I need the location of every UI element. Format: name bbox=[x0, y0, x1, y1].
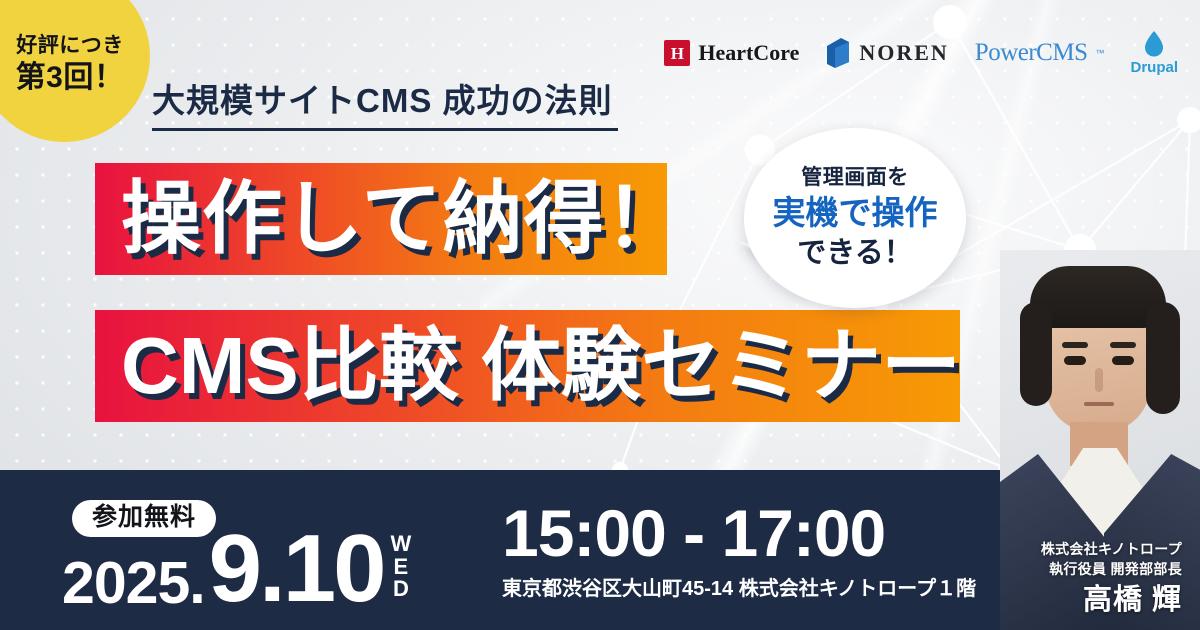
logo-powercms-label: PowerCMS bbox=[975, 39, 1088, 67]
event-year: 2025. bbox=[62, 556, 205, 610]
dow-letter-1: W bbox=[391, 533, 412, 555]
speech-bubble: 管理画面を 実機で操作 できる！ bbox=[744, 128, 966, 308]
event-day: 9.10 bbox=[209, 528, 384, 611]
logo-drupal-label: Drupal bbox=[1130, 59, 1178, 76]
bubble-line-3: できる！ bbox=[797, 236, 912, 271]
logo-noren-label: NOREN bbox=[859, 40, 948, 66]
headline-band-1: 操作して納得！ bbox=[95, 163, 667, 275]
speaker-title: 執行役員 開発部部長 bbox=[1041, 559, 1182, 579]
event-time: 15:00 - 17:00 bbox=[502, 500, 976, 566]
headline-line-2: CMS比較 体験セミナー bbox=[95, 326, 961, 406]
speaker-name: 高橋 輝 bbox=[1041, 583, 1182, 618]
repeat-badge: 好評につき 第3回！ bbox=[0, 0, 150, 142]
bubble-line-2: 実機で操作 bbox=[773, 193, 938, 233]
event-date: 2025. 9.10 W E D bbox=[62, 528, 411, 611]
speaker-info: 株式会社キノトロープ 執行役員 開発部部長 高橋 輝 bbox=[1041, 539, 1182, 618]
speaker-side-hair-right bbox=[1146, 302, 1180, 414]
logo-powercms: PowerCMS ™ bbox=[975, 39, 1105, 67]
speaker-eyebrow-right bbox=[1110, 342, 1136, 348]
repeat-badge-line1: 好評につき bbox=[16, 33, 124, 59]
logo-heartcore-label: HeartCore bbox=[698, 40, 799, 66]
repeat-badge-line2: 第3回！ bbox=[16, 61, 125, 96]
heartcore-mark-icon: H bbox=[664, 40, 690, 66]
logo-drupal: Drupal bbox=[1130, 30, 1178, 76]
speaker-nose bbox=[1095, 368, 1103, 392]
logo-noren: NOREN bbox=[825, 38, 948, 68]
dow-letter-3: D bbox=[393, 578, 409, 600]
speaker-eyebrow-left bbox=[1062, 342, 1088, 348]
speaker-eye-left bbox=[1064, 356, 1086, 365]
event-day-of-week: W E D bbox=[391, 533, 412, 600]
subtitle: 大規模サイトCMS 成功の法則 bbox=[152, 74, 618, 122]
event-address: 東京都渋谷区大山町45-14 株式会社キノトロープ１階 bbox=[502, 572, 976, 601]
subtitle-underline bbox=[152, 128, 618, 131]
speaker-company: 株式会社キノトロープ bbox=[1041, 539, 1182, 559]
speaker-side-hair-left bbox=[1020, 302, 1052, 406]
logo-heartcore: H HeartCore bbox=[664, 40, 799, 66]
logo-powercms-tm: ™ bbox=[1095, 48, 1104, 58]
subtitle-block: 大規模サイトCMS 成功の法則 bbox=[152, 74, 618, 131]
speaker-mouth bbox=[1084, 402, 1114, 406]
headline-band-2: CMS比較 体験セミナー bbox=[95, 310, 960, 422]
dow-letter-2: E bbox=[394, 556, 409, 578]
cms-logo-row: H HeartCore NOREN PowerCMS ™ Drupal bbox=[664, 30, 1178, 76]
speaker-eye-right bbox=[1112, 356, 1134, 365]
drupal-droplet-icon bbox=[1142, 30, 1166, 58]
event-time-block: 15:00 - 17:00 東京都渋谷区大山町45-14 株式会社キノトロープ１… bbox=[502, 500, 976, 601]
noren-mark-icon bbox=[825, 38, 851, 68]
bubble-line-1: 管理画面を bbox=[801, 165, 909, 190]
heartcore-mark-letter: H bbox=[671, 45, 684, 62]
headline-line-1: 操作して納得！ bbox=[95, 179, 686, 259]
seminar-banner: 好評につき 第3回！ H HeartCore NOREN PowerCMS ™ … bbox=[0, 0, 1200, 630]
